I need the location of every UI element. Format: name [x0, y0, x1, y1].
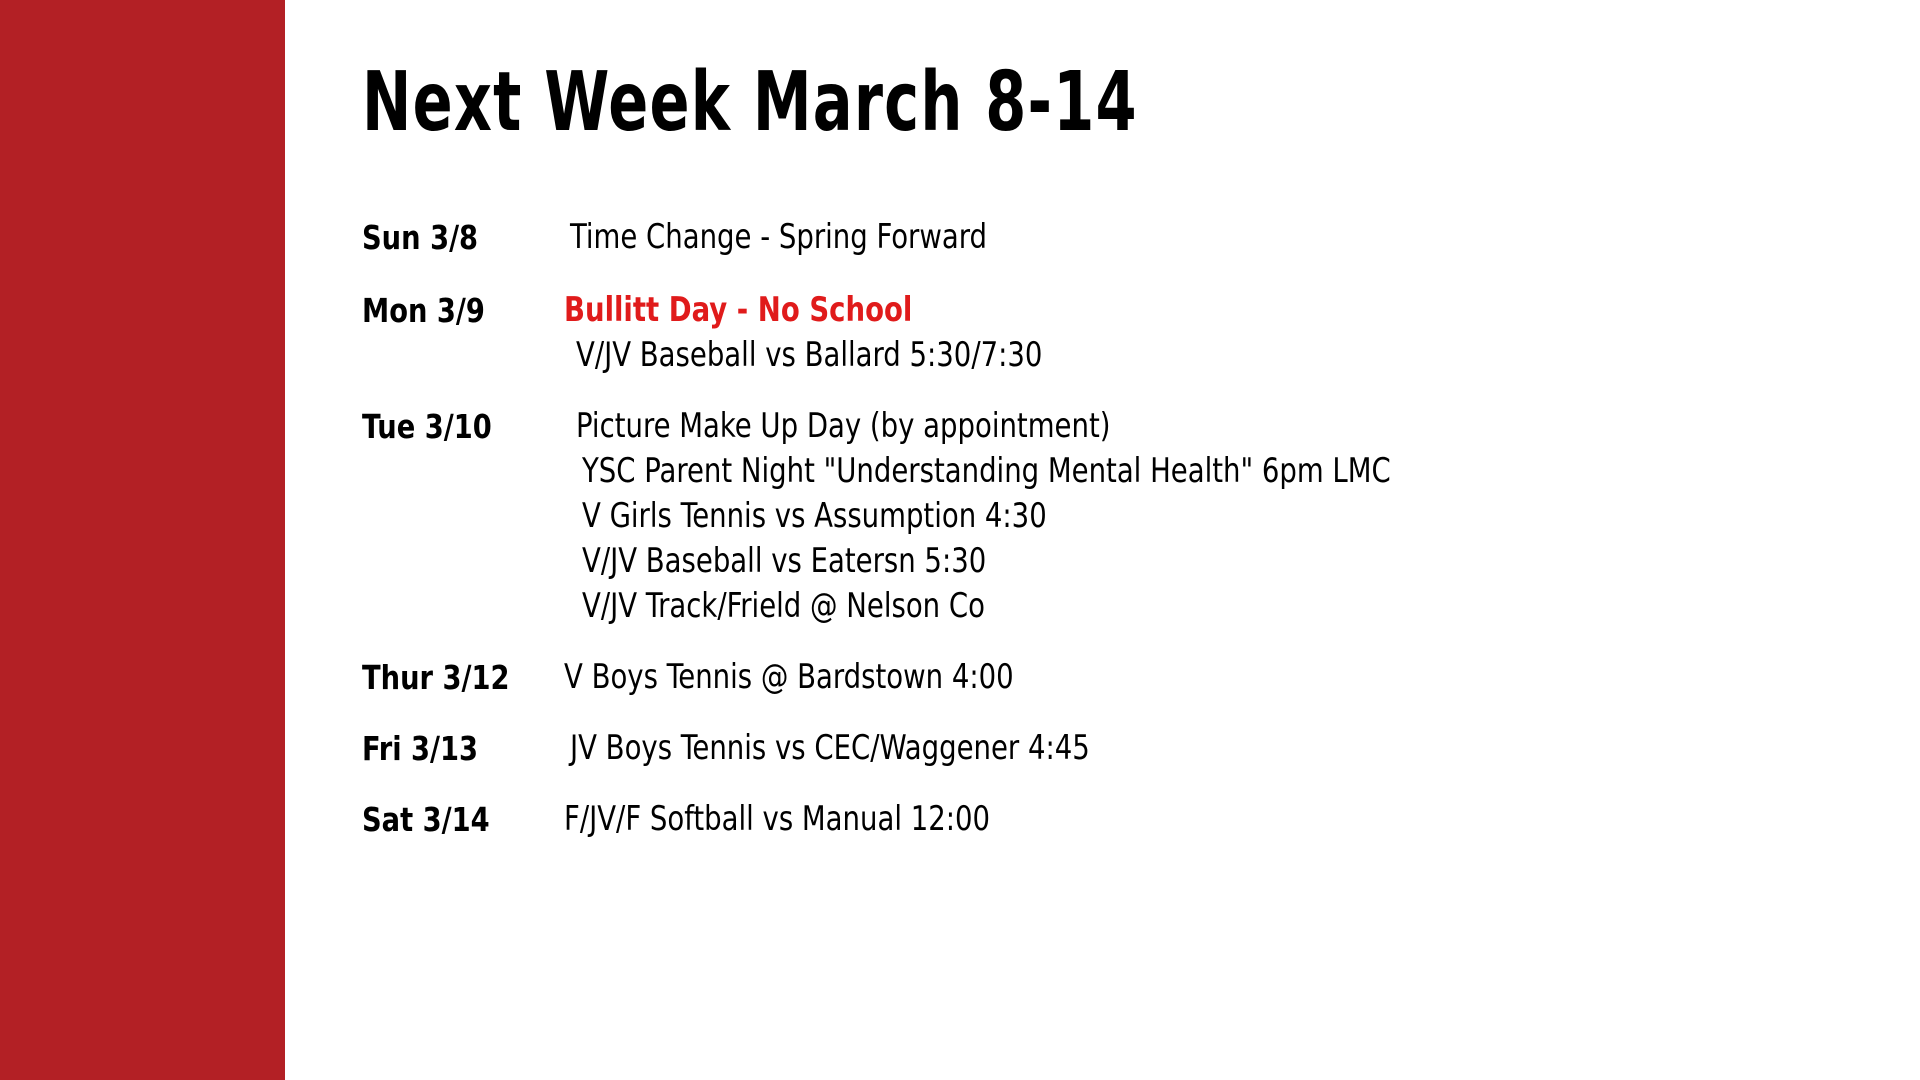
event-line: V/JV Baseball vs Ballard 5:30/7:30	[576, 333, 1733, 378]
schedule-day-row: Tue 3/10Picture Make Up Day (by appointm…	[362, 404, 1862, 629]
day-label: Sun 3/8	[362, 215, 542, 260]
slide-canvas: Next Week March 8-14 Sun 3/8Time Change …	[0, 0, 1920, 1080]
weekly-schedule-list: Sun 3/8Time Change - Spring ForwardMon 3…	[362, 215, 1862, 868]
schedule-day-row: Sat 3/14F/JV/F Softball vs Manual 12:00	[362, 797, 1862, 842]
day-events-group: V Boys Tennis @ Bardstown 4:00	[558, 655, 1862, 700]
event-line: V/JV Track/Frield @ Nelson Co	[582, 584, 1734, 629]
schedule-day-row: Thur 3/12V Boys Tennis @ Bardstown 4:00	[362, 655, 1862, 700]
schedule-day-row: Mon 3/9Bullitt Day - No SchoolV/JV Baseb…	[362, 288, 1862, 378]
day-label: Mon 3/9	[362, 288, 542, 333]
day-label: Fri 3/13	[362, 726, 542, 771]
day-label: Tue 3/10	[362, 404, 542, 449]
event-line: V Boys Tennis @ Bardstown 4:00	[564, 655, 1732, 700]
day-events-group: Bullitt Day - No SchoolV/JV Baseball vs …	[558, 288, 1862, 378]
slide-content: Next Week March 8-14 Sun 3/8Time Change …	[362, 0, 1862, 1080]
event-line: V/JV Baseball vs Eatersn 5:30	[582, 539, 1734, 584]
day-label: Sat 3/14	[362, 797, 542, 842]
sidebar-accent-bar	[0, 0, 285, 1080]
event-line: F/JV/F Softball vs Manual 12:00	[564, 797, 1732, 842]
schedule-day-row: Sun 3/8Time Change - Spring Forward	[362, 215, 1862, 260]
day-events-group: F/JV/F Softball vs Manual 12:00	[558, 797, 1862, 842]
schedule-day-row: Fri 3/13JV Boys Tennis vs CEC/Waggener 4…	[362, 726, 1862, 771]
event-line: Time Change - Spring Forward	[570, 215, 1733, 260]
event-line: JV Boys Tennis vs CEC/Waggener 4:45	[570, 726, 1733, 771]
page-title: Next Week March 8-14	[362, 62, 1138, 144]
event-line: V Girls Tennis vs Assumption 4:30	[582, 494, 1734, 539]
day-events-group: Time Change - Spring Forward	[558, 215, 1862, 260]
event-line: Picture Make Up Day (by appointment)	[576, 404, 1733, 449]
day-label: Thur 3/12	[362, 655, 542, 700]
day-events-group: Picture Make Up Day (by appointment)YSC …	[558, 404, 1862, 629]
day-events-group: JV Boys Tennis vs CEC/Waggener 4:45	[558, 726, 1862, 771]
event-line-highlighted: Bullitt Day - No School	[564, 288, 1732, 333]
event-line: YSC Parent Night "Understanding Mental H…	[582, 449, 1734, 494]
